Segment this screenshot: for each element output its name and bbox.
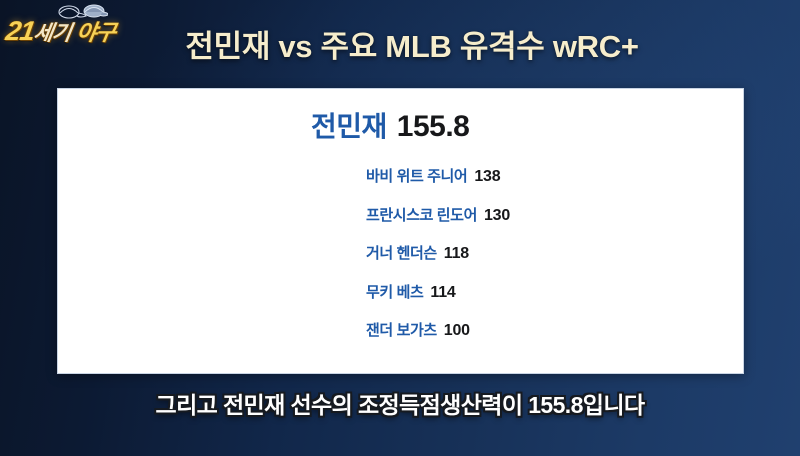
player-name: 무키 베츠 — [366, 281, 423, 302]
stat-row-highlight: 전민재155.8 — [311, 105, 469, 145]
stat-row: 무키 베츠114 — [366, 281, 456, 302]
logo-yagu: 야구 — [75, 20, 117, 45]
player-name: 잰더 보가츠 — [366, 319, 437, 340]
stat-row: 거너 헨더슨118 — [366, 242, 469, 263]
player-value: 114 — [430, 284, 455, 302]
logo-segi: 세기 — [32, 22, 72, 45]
player-value-highlight: 155.8 — [397, 110, 470, 144]
stat-panel: 전민재155.8 바비 위트 주니어138 프란시스코 린도어130 거너 헨더… — [57, 88, 744, 374]
stat-row: 잰더 보가츠100 — [366, 319, 470, 340]
player-value: 138 — [474, 168, 500, 186]
player-name: 프란시스코 린도어 — [366, 204, 477, 225]
caption-subtitle: 그리고 전민재 선수의 조정득점생산력이 155.8입니다 — [0, 386, 800, 420]
player-name: 바비 위트 주니어 — [366, 165, 467, 186]
stat-row: 바비 위트 주니어138 — [366, 165, 500, 186]
player-value: 118 — [444, 245, 469, 263]
page-title: 전민재 vs 주요 MLB 유격수 wRC+ — [112, 18, 712, 68]
player-name: 거너 헨더슨 — [366, 242, 437, 263]
broadcast-graphic-screen: 21세기 야구 전민재 vs 주요 MLB 유격수 wRC+ 전민재155.8 … — [0, 0, 800, 456]
player-name-highlight: 전민재 — [311, 105, 387, 145]
channel-logo: 21세기 야구 — [6, 2, 110, 52]
stat-row: 프란시스코 린도어130 — [366, 204, 510, 225]
player-value: 130 — [484, 207, 510, 225]
logo-wordmark: 21세기 야구 — [3, 14, 113, 50]
stat-list: 전민재155.8 바비 위트 주니어138 프란시스코 린도어130 거너 헨더… — [58, 89, 743, 373]
player-value: 100 — [444, 322, 470, 340]
